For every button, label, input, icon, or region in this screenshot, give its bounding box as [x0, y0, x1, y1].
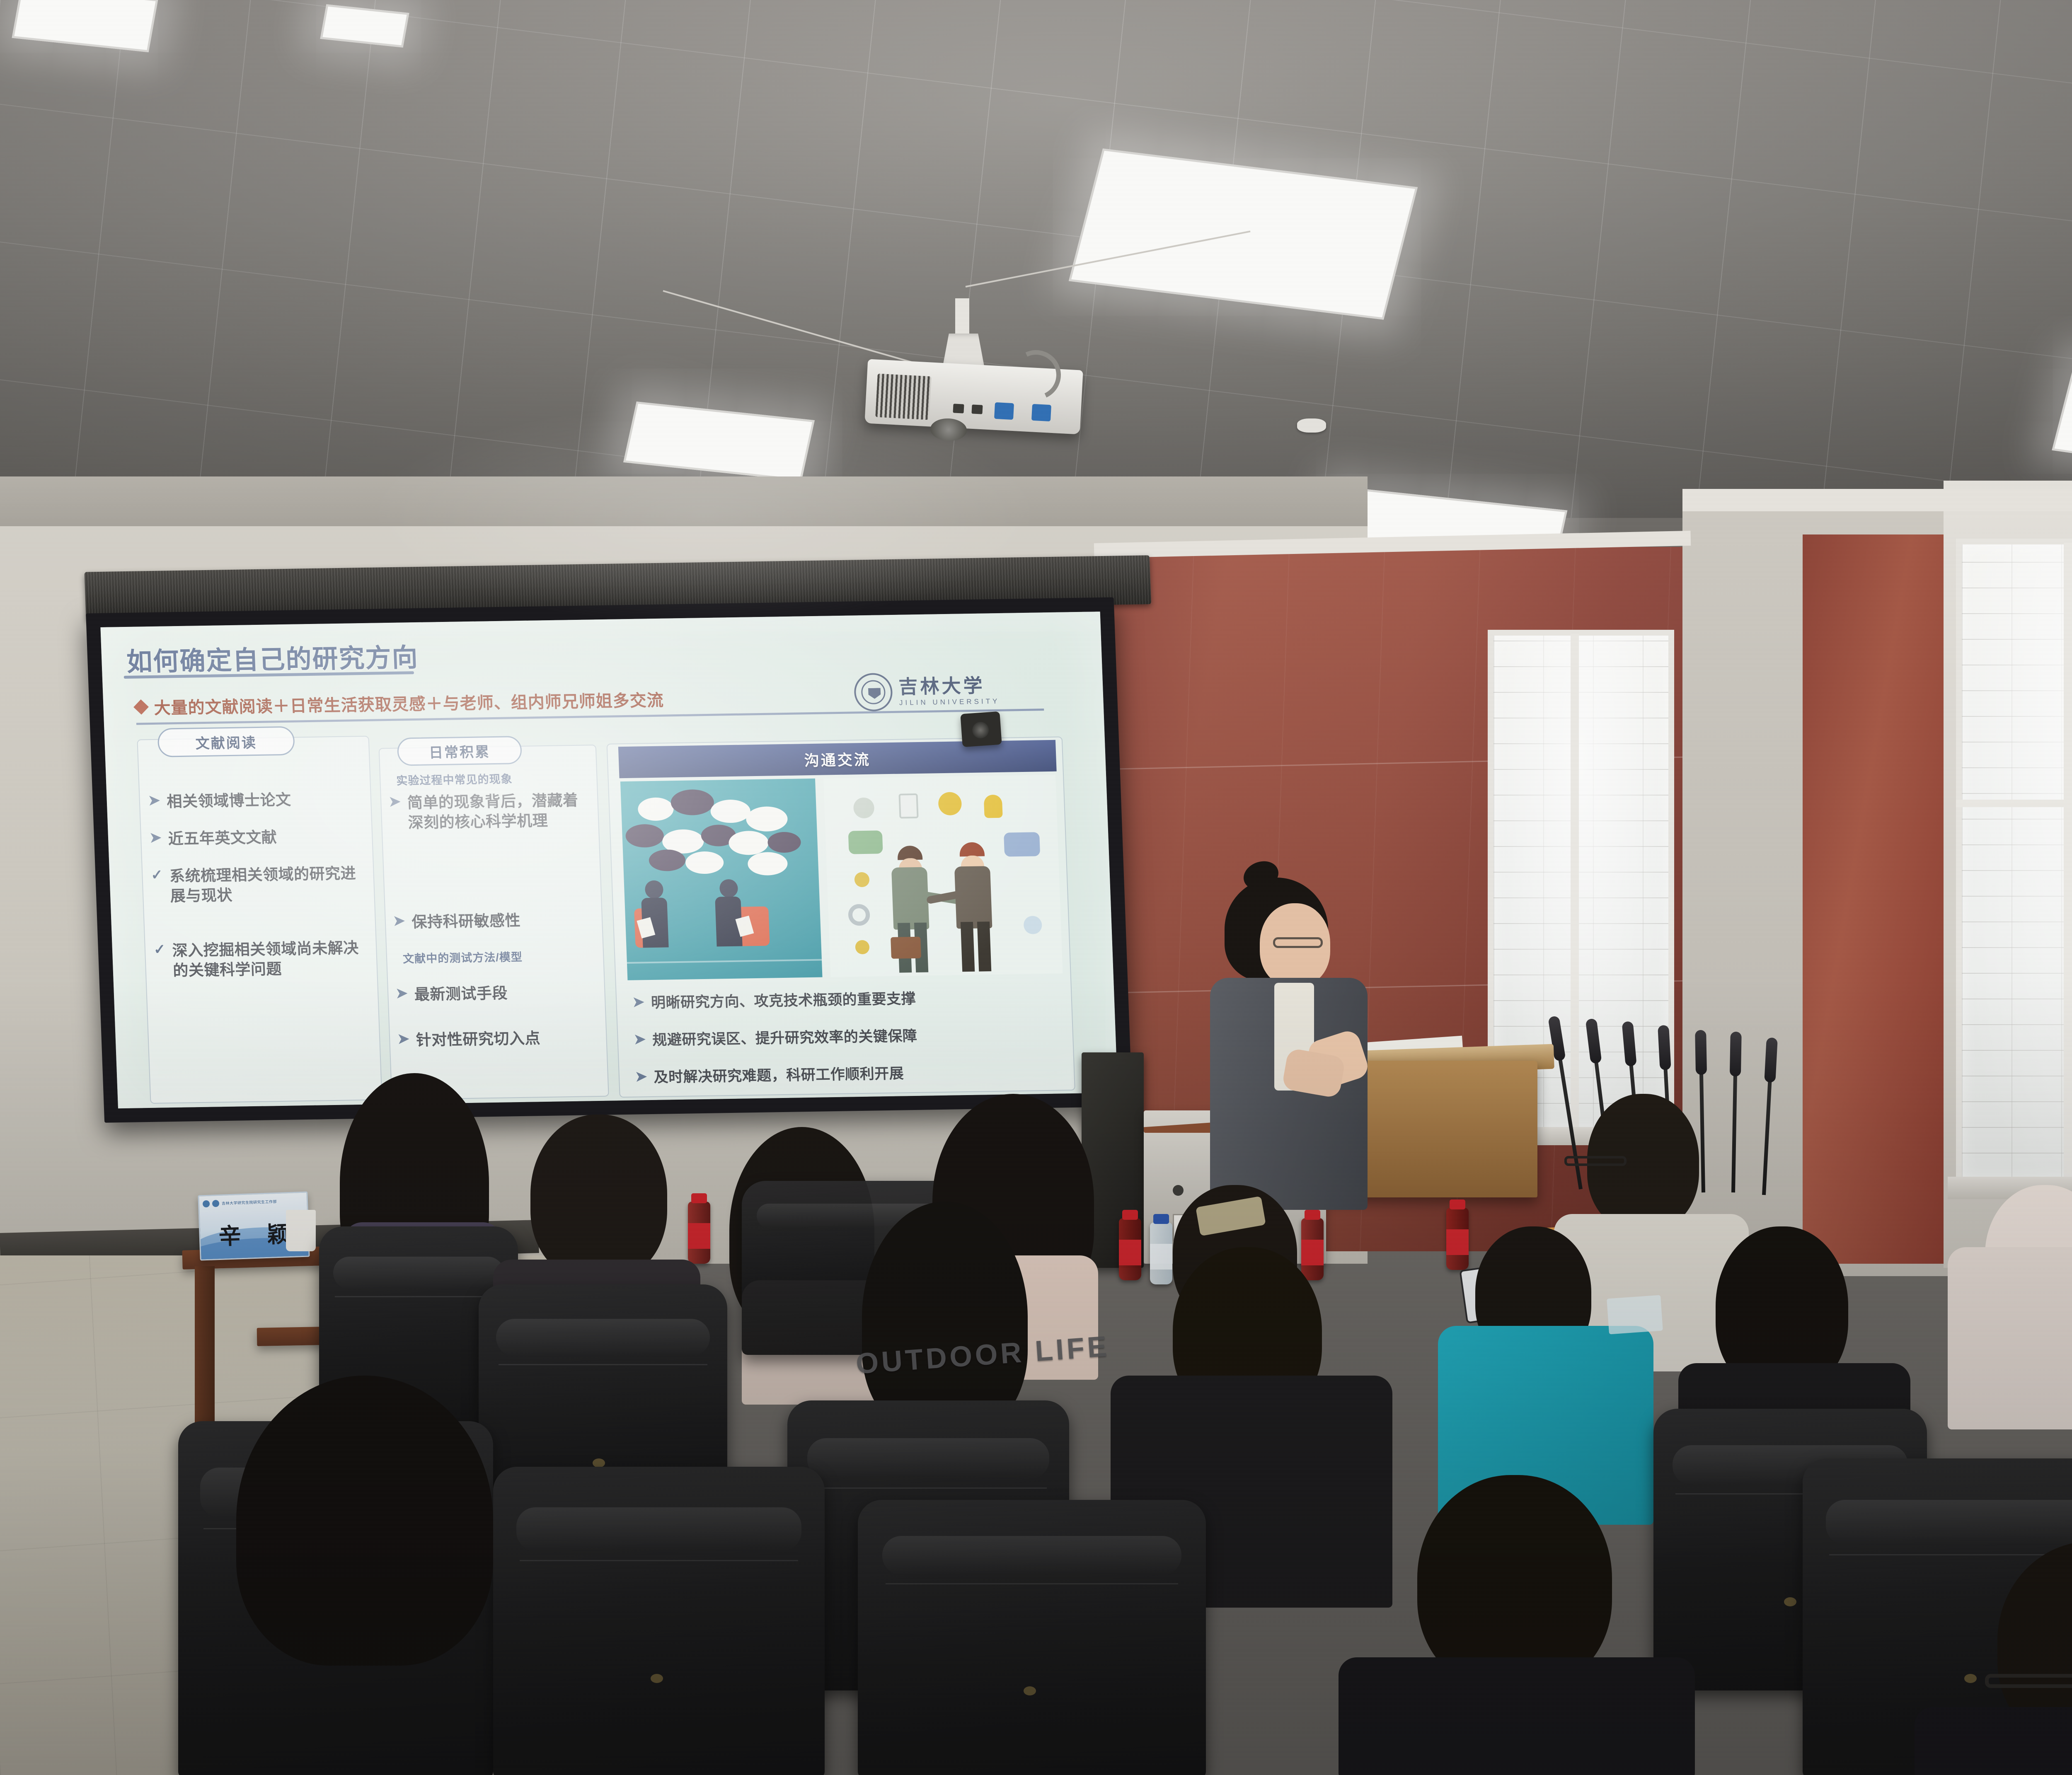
illustration-floor-line: [627, 959, 822, 964]
chair-seam: [810, 1487, 1046, 1489]
window-light: [1962, 544, 2072, 1179]
projector-port: [971, 404, 983, 414]
coin-icon: [855, 940, 869, 955]
bullet-text: 及时解决研究难题，科研工作顺利开展: [654, 1064, 904, 1087]
chair-stud: [1784, 1597, 1796, 1606]
placard-org-line: 吉林大学研究生院研究生工作部: [222, 1199, 277, 1206]
glasses-icon: [1985, 1674, 2072, 1688]
speech-bubble-icon: [670, 789, 714, 816]
literature-bullet: ✓ 深入挖掘相关领域尚未解决的关键科学问题: [153, 938, 370, 981]
jilin-university-logo: 吉林大学 JILIN UNIVERSITY: [853, 671, 1000, 711]
projection-screen: 如何确定自己的研究方向 大量的文献阅读＋日常生活获取灵感＋与老师、组内师兄师姐多…: [85, 572, 1167, 1151]
placard-header: 吉林大学研究生院研究生工作部: [203, 1196, 304, 1208]
logo-name-cn: 吉林大学: [898, 676, 1000, 696]
briefcase-icon: [891, 937, 921, 959]
chair-seam: [499, 1364, 707, 1365]
check-marker-icon: ✓: [151, 867, 163, 884]
bottle-cap: [1122, 1210, 1138, 1220]
smoke-detector-icon: [1297, 418, 1326, 433]
bullet-text: 近五年英文文献: [168, 827, 277, 849]
attendee-hair: [236, 1376, 493, 1666]
chair-stud: [651, 1674, 663, 1683]
chair-stud: [1024, 1686, 1036, 1695]
projector-plug: [994, 402, 1014, 420]
bullet-text: 简单的现象背后，潜藏着深刻的核心科学机理: [407, 790, 593, 833]
bullet-marker-icon: ➤: [393, 912, 405, 929]
bullet-marker-icon: ➤: [634, 1031, 646, 1048]
auditorium-chair[interactable]: [858, 1500, 1206, 1775]
speech-bubble-icon: [710, 799, 751, 823]
beverage-bottle: [1446, 1208, 1469, 1270]
wall-upper-band: [0, 476, 1368, 526]
wood-pillar: [1803, 534, 1948, 1264]
illustration-head: [719, 879, 738, 898]
glasses-icon: [1564, 1156, 1627, 1166]
bottle-label: [1150, 1244, 1172, 1270]
bullet-text: 保持科研敏感性: [411, 911, 521, 932]
chair-seam: [1829, 1554, 2072, 1555]
daily-pill-label: 日常积累: [397, 736, 523, 766]
bottle-label: [1446, 1229, 1469, 1255]
bullet-marker-icon: ➤: [632, 994, 645, 1011]
placard-logo-icon: [212, 1199, 220, 1207]
window: [1956, 539, 2072, 1185]
projector-mount-pole: [955, 298, 969, 338]
bottle-cap: [1153, 1214, 1169, 1224]
lightbulb-icon: [984, 795, 1003, 818]
refresh-icon: [938, 792, 962, 815]
speech-bubble-icon: [747, 852, 788, 875]
bullet-marker-icon: ➤: [389, 793, 401, 810]
paper-cup: [286, 1210, 316, 1251]
literature-bullet: ✓ 系统梳理相关领域的研究进展与现状: [151, 863, 368, 907]
slide-headline: 大量的文献阅读＋日常生活获取灵感＋与老师、组内师兄师姐多交流: [153, 687, 664, 719]
university-seal-icon: [853, 673, 893, 711]
decor-circle-icon: [853, 798, 875, 819]
diamond-bullet-icon: [133, 699, 149, 715]
window-mullion: [1571, 634, 1579, 1131]
rack-knob[interactable]: [1173, 1185, 1184, 1196]
projector-port: [953, 404, 964, 413]
ceiling: [0, 0, 2072, 518]
bottle-label: [1119, 1240, 1141, 1265]
bullet-marker-icon: ➤: [397, 1030, 410, 1047]
bullet-text: 系统梳理相关领域的研究进展与现状: [169, 863, 368, 907]
literature-pill-label: 文献阅读: [157, 726, 295, 757]
lecture-room-photo: 如何确定自己的研究方向 大量的文献阅读＋日常生活获取灵感＋与老师、组内师兄师姐多…: [0, 0, 2072, 1775]
camera-icon: [960, 711, 1002, 747]
handshake-illustration: [823, 775, 1063, 977]
slide-headline-row: 大量的文献阅读＋日常生活获取灵感＋与老师、组内师兄师姐多交流: [135, 687, 664, 719]
water-bottle: [1150, 1222, 1172, 1284]
illustration-leg: [961, 922, 975, 972]
projector-vent: [875, 374, 931, 420]
chair-stud: [1964, 1674, 1977, 1683]
beverage-bottle: [1119, 1218, 1141, 1280]
speech-bubble-icon: [728, 831, 769, 855]
speech-bubble-icon: [848, 830, 883, 854]
speech-bubble-icon: [625, 824, 664, 848]
gear-icon: [848, 904, 870, 926]
illustration-head: [645, 880, 664, 899]
bottle-label: [688, 1223, 710, 1249]
crown-molding: [1682, 489, 2072, 511]
screen-frame: 如何确定自己的研究方向 大量的文献阅读＋日常生活获取灵感＋与老师、组内师兄师姐多…: [86, 597, 1132, 1123]
daily-bullet: ➤ 保持科研敏感性: [393, 909, 597, 933]
daily-sublabel-2: 文献中的测试方法/模型: [402, 948, 523, 966]
bullet-text: 最新测试手段: [414, 983, 508, 1005]
check-marker-icon: ✓: [153, 941, 166, 958]
coin-icon: [854, 872, 869, 888]
presentation-slide: 如何确定自己的研究方向 大量的文献阅读＋日常生活获取灵感＋与老师、组内师兄师姐多…: [100, 612, 1118, 1108]
chair-seam: [886, 1583, 1178, 1584]
bullet-text: 针对性研究切入点: [416, 1028, 541, 1050]
bottle-label: [1301, 1240, 1324, 1265]
window-mullion: [1956, 800, 2072, 807]
daily-sublabel-1: 实验过程中常见的现象: [396, 770, 513, 788]
beverage-bottle: [1301, 1218, 1324, 1280]
chair-seam: [335, 1296, 502, 1297]
bottle-cap: [691, 1193, 707, 1203]
illustration-leg: [977, 921, 991, 971]
chair-stud: [593, 1458, 605, 1468]
chair-seam: [520, 1560, 798, 1561]
bullet-marker-icon: ➤: [149, 829, 162, 846]
bottle-cap: [1305, 1210, 1320, 1220]
decor-circle-icon: [1023, 916, 1042, 934]
attendee-clothing: [1339, 1657, 1695, 1775]
glasses-icon: [1273, 937, 1323, 948]
daily-bullet: ➤ 最新测试手段: [396, 982, 600, 1005]
window-mullion: [2064, 543, 2072, 1181]
literature-bullet: ➤ 相关领域博士论文: [148, 789, 364, 812]
sweater-patch: [1607, 1295, 1663, 1335]
projector-plug: [1031, 404, 1051, 421]
clipboard-icon: [898, 793, 918, 819]
bullet-text: 深入挖掘相关领域尚未解决的关键科学问题: [172, 938, 370, 981]
placard-logo-icon: [203, 1200, 210, 1207]
speech-bubble-icon: [767, 832, 801, 853]
logo-name-en: JILIN UNIVERSITY: [899, 698, 1000, 706]
bullet-marker-icon: ➤: [148, 792, 160, 809]
bottle-cap: [1450, 1199, 1465, 1209]
attendee-clothing: [1948, 1247, 2072, 1429]
daily-bullet: ➤ 针对性研究切入点: [397, 1028, 601, 1051]
bullet-marker-icon: ➤: [635, 1068, 647, 1085]
attendee-clothing: [1915, 1707, 2072, 1775]
discussion-illustration: [620, 779, 823, 980]
speech-bubble-icon: [1004, 832, 1040, 856]
literature-bullet: ➤ 近五年英文文献: [149, 826, 366, 849]
bullet-text: 相关领域博士论文: [167, 790, 292, 812]
attendee-hair: [862, 1202, 1028, 1434]
illustration-hair: [959, 842, 985, 856]
daily-bullet: ➤ 简单的现象背后，潜藏着深刻的核心科学机理: [389, 790, 593, 833]
speech-bubble-icon: [685, 851, 724, 874]
speech-bubble-icon: [637, 797, 674, 821]
beverage-bottle: [688, 1202, 710, 1264]
bullet-marker-icon: ➤: [396, 985, 408, 1002]
ceiling-shading: [0, 0, 2072, 518]
speech-bubble-icon: [649, 849, 686, 871]
auditorium-chair[interactable]: [493, 1467, 825, 1775]
speech-bubble-icon: [746, 806, 788, 832]
attendee-head: [530, 1115, 667, 1280]
